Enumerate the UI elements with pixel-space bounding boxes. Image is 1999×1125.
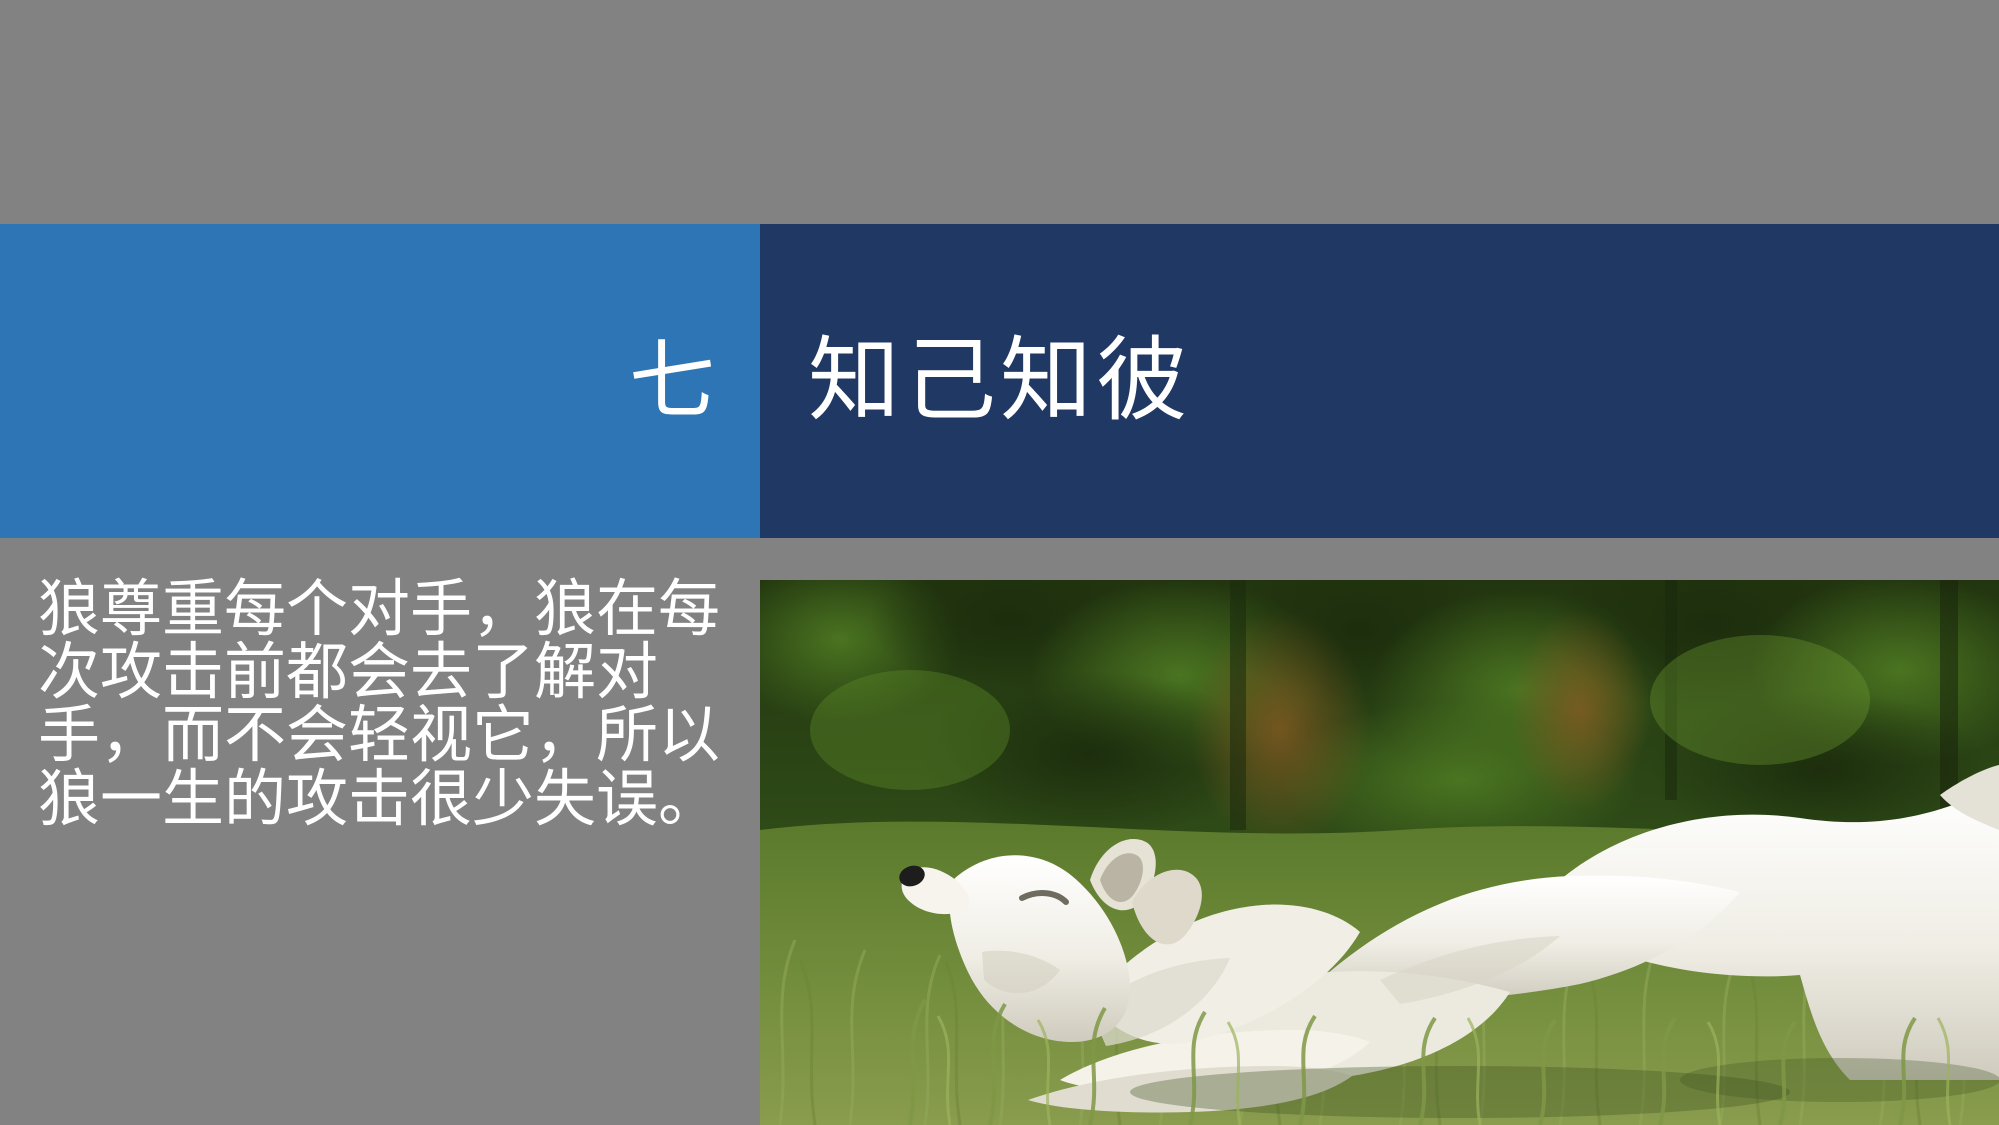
title-band-right-panel: 知己知彼: [760, 224, 1999, 538]
body-text-column: 狼尊重每个对手，狼在每次攻击前都会去了解对手，而不会轻视它，所以狼一生的攻击很少…: [38, 578, 728, 831]
page-title: 知己知彼: [808, 335, 1192, 427]
body-paragraph: 狼尊重每个对手，狼在每次攻击前都会去了解对手，而不会轻视它，所以狼一生的攻击很少…: [38, 578, 728, 831]
slide-canvas: 七 知己知彼 狼尊重每个对手，狼在每次攻击前都会去了解对手，而不会轻视它，所以狼…: [0, 0, 1999, 1125]
wolf-photo: [760, 580, 1999, 1125]
title-band: 七 知己知彼: [0, 224, 1999, 538]
title-band-left-panel: 七: [0, 224, 760, 538]
chapter-number: 七: [629, 338, 715, 424]
wolf-photo-illustration: [760, 580, 1999, 1125]
